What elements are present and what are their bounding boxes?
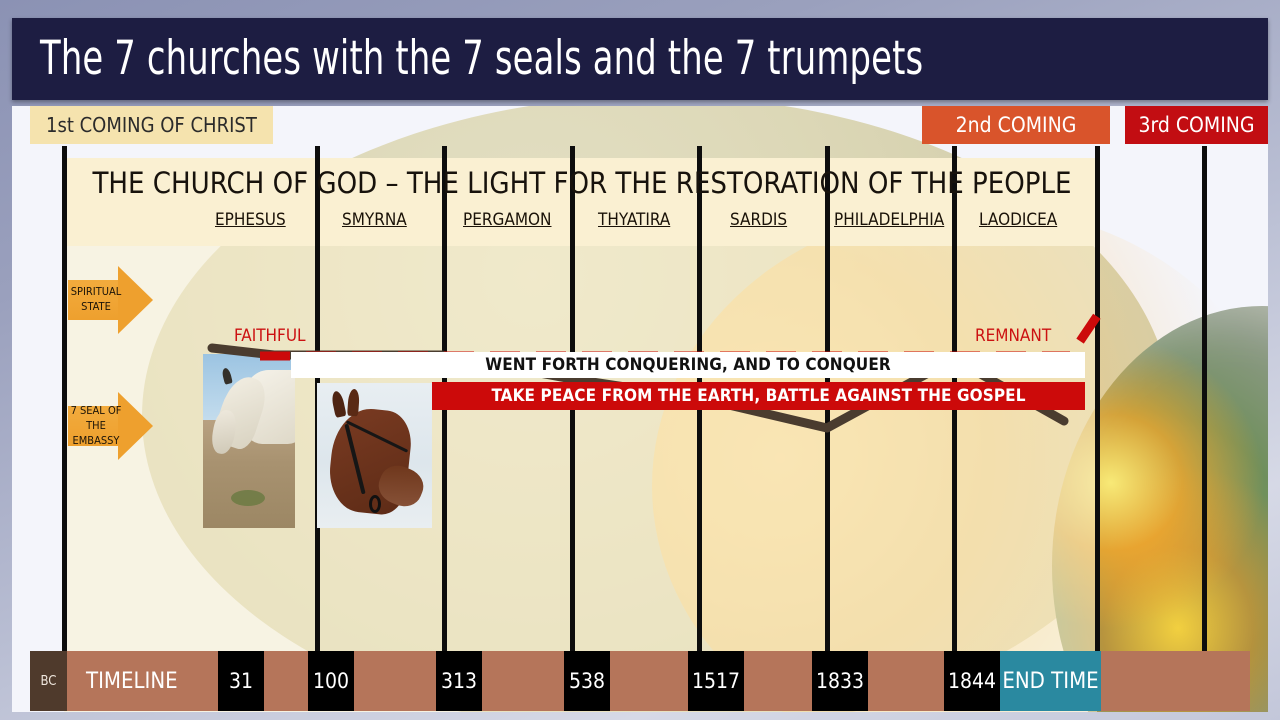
arrow-label-line2: THE: [70, 418, 122, 433]
timeline-bar: BC TIMELINE 31100313538151718331844 END …: [30, 651, 1250, 711]
arrow-label: SPIRITUAL STATE: [70, 284, 122, 314]
timeline-date-1844: 1844: [944, 651, 1000, 711]
page-title: The 7 churches with the 7 seals and the …: [40, 30, 923, 88]
timeline-end-time: END TIME: [1000, 651, 1101, 711]
timeline-date-1517: 1517: [688, 651, 744, 711]
timeline-date-538: 538: [564, 651, 610, 711]
timeline-bc-label: BC: [30, 651, 67, 711]
timeline-date-313: 313: [436, 651, 482, 711]
arrow-label-line1: SPIRITUAL: [70, 284, 122, 299]
slide-body: 1st COMING OF CHRIST 2nd COMING 3rd COMI…: [12, 106, 1268, 712]
title-band: The 7 churches with the 7 seals and the …: [12, 18, 1268, 100]
timeline-date-31: 31: [218, 651, 264, 711]
timeline-date-1833: 1833: [812, 651, 868, 711]
arrow-label: 7 SEAL OF THE EMBASSY: [70, 403, 122, 448]
arrow-label-line1: 7 SEAL OF: [70, 403, 122, 418]
arrow-label-line2: STATE: [70, 299, 122, 314]
timeline-date-100: 100: [308, 651, 354, 711]
faithful-remnant-line: [260, 316, 1097, 356]
timeline-title: TIMELINE: [86, 651, 178, 711]
slide: The 7 churches with the 7 seals and the …: [12, 18, 1268, 712]
banner-first-seal: WENT FORTH CONQUERING, AND TO CONQUER: [291, 352, 1085, 378]
arrow-label-line3: EMBASSY: [70, 433, 122, 448]
banner-second-seal: TAKE PEACE FROM THE EARTH, BATTLE AGAINS…: [432, 382, 1085, 410]
